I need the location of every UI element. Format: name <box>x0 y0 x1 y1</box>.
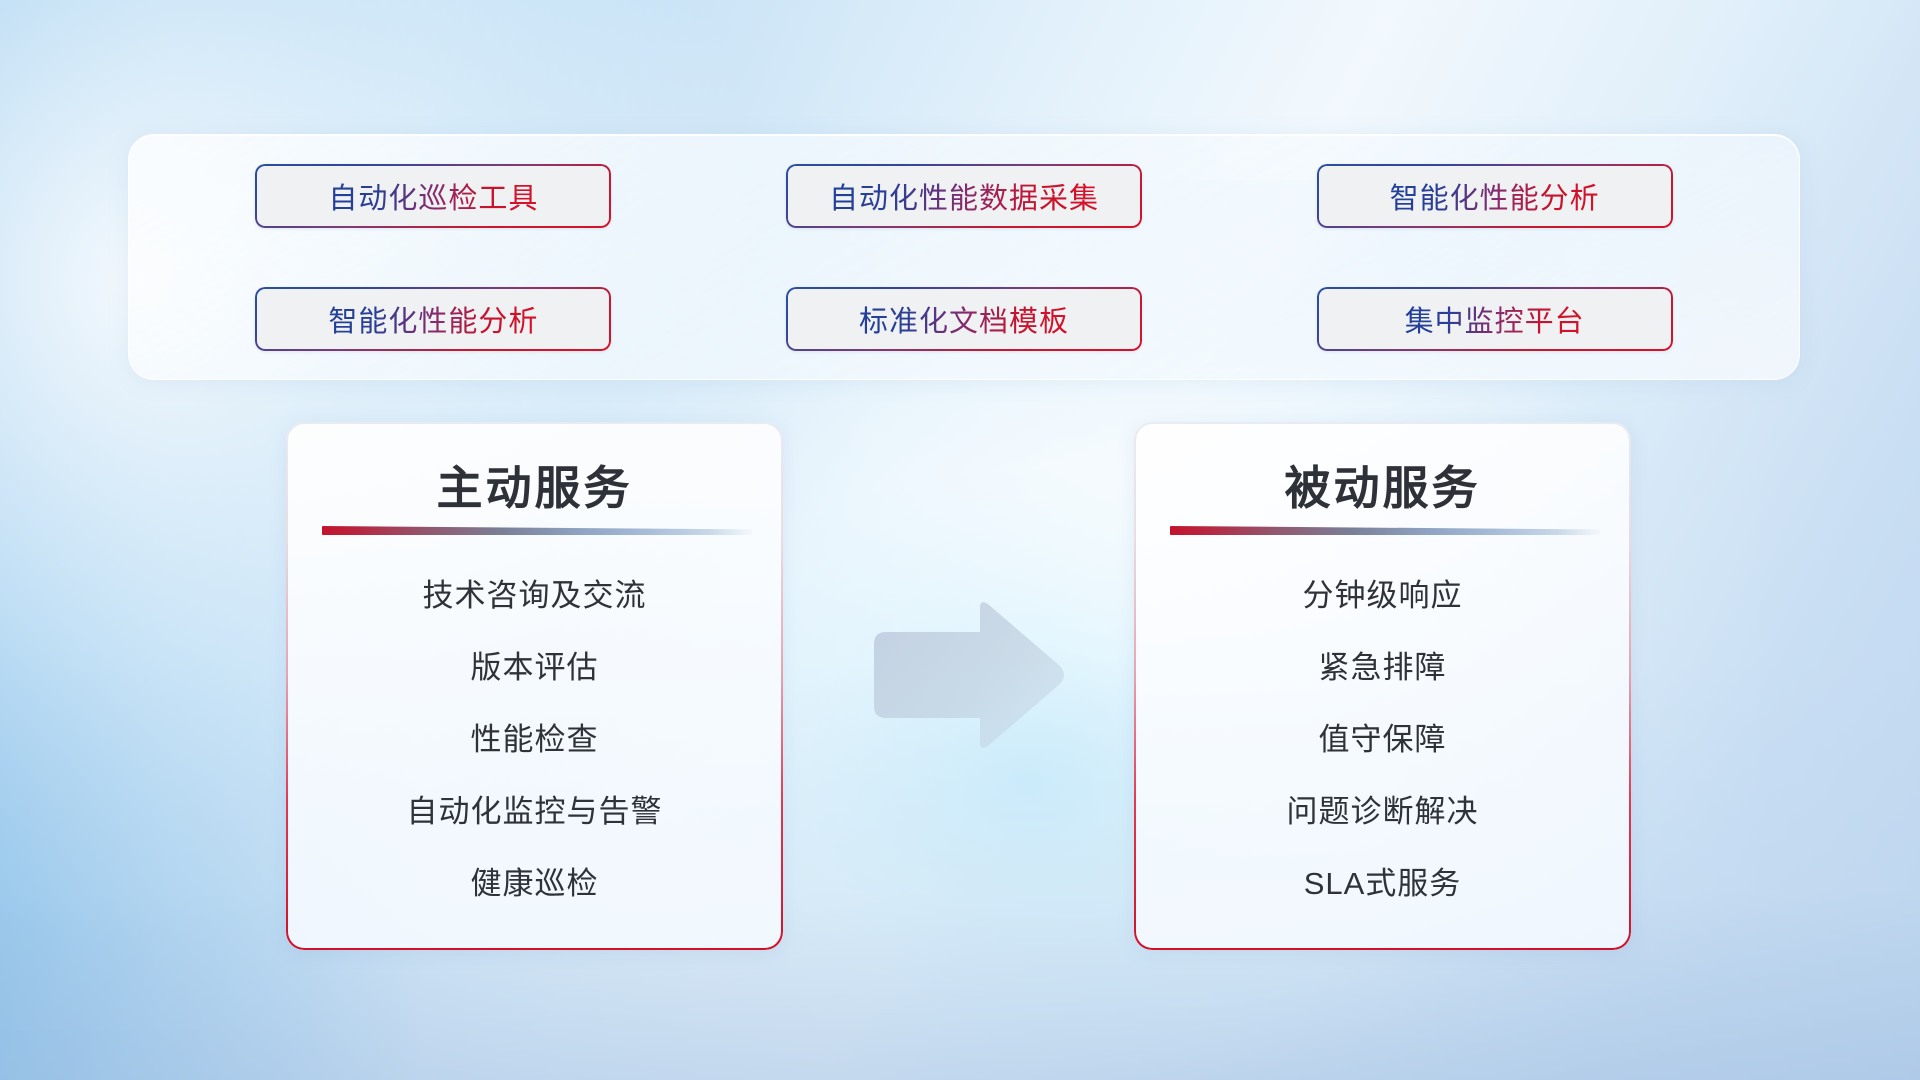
capability-tag[interactable]: 智能化性能分析 <box>1317 164 1673 228</box>
capability-tag[interactable]: 标准化文档模板 <box>786 287 1142 351</box>
service-item: 问题诊断解决 <box>1287 788 1479 836</box>
service-item-list: 技术咨询及交流 版本评估 性能检查 自动化监控与告警 健康巡检 <box>286 572 783 908</box>
service-item: 健康巡检 <box>471 860 599 908</box>
service-item: 性能检查 <box>471 716 599 764</box>
service-item: 值守保障 <box>1319 716 1447 764</box>
capability-tag[interactable]: 自动化巡检工具 <box>255 164 611 228</box>
capability-tag[interactable]: 智能化性能分析 <box>255 287 611 351</box>
capability-tag-label: 自动化巡检工具 <box>328 175 538 217</box>
service-item: 紧急排障 <box>1319 644 1447 692</box>
capability-tag-label: 智能化性能分析 <box>1390 175 1600 217</box>
title-underline-rule <box>1170 526 1600 535</box>
service-card-reactive: 被动服务 分钟级响应 紧急排障 值守保障 问题诊断解决 SLA式服务 <box>1134 422 1631 950</box>
service-item: 技术咨询及交流 <box>423 572 647 620</box>
service-card-proactive: 主动服务 技术咨询及交流 版本评估 性能检查 自动化监控与告警 健康巡检 <box>286 422 783 950</box>
capability-tag[interactable]: 集中监控平台 <box>1317 287 1673 351</box>
capability-tag-grid: 自动化巡检工具 自动化性能数据采集 智能化性能分析 智能化性能分析 标准化文档模… <box>128 134 1800 380</box>
service-card-title: 主动服务 <box>286 452 783 518</box>
capability-tag[interactable]: 自动化性能数据采集 <box>786 164 1142 228</box>
service-item: 自动化监控与告警 <box>407 788 663 836</box>
capability-tag-label: 标准化文档模板 <box>859 298 1069 340</box>
service-item: 分钟级响应 <box>1303 572 1463 620</box>
service-card-title: 被动服务 <box>1134 452 1631 518</box>
service-item-list: 分钟级响应 紧急排障 值守保障 问题诊断解决 SLA式服务 <box>1134 572 1631 908</box>
arrow-right-icon <box>868 600 1068 750</box>
service-item: SLA式服务 <box>1304 860 1462 908</box>
capability-tag-label: 自动化性能数据采集 <box>829 175 1099 217</box>
capability-tag-label: 集中监控平台 <box>1405 298 1585 340</box>
service-item: 版本评估 <box>471 644 599 692</box>
title-underline-rule <box>322 526 752 535</box>
capability-tag-label: 智能化性能分析 <box>328 298 538 340</box>
